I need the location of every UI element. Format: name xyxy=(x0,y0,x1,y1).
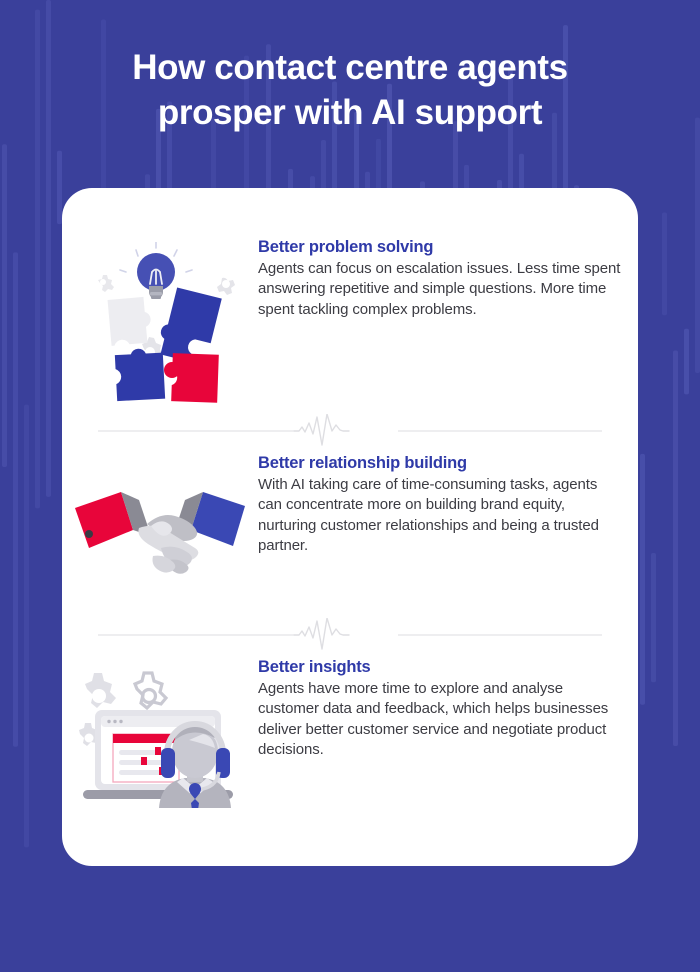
page-title-line-2: prosper with AI support xyxy=(0,91,700,136)
puzzle-lightbulb-icon xyxy=(62,238,258,410)
benefit-block-relationship-building: Better relationship building With AI tak… xyxy=(62,454,638,582)
benefit-block-insights: Better insights Agents have more time to… xyxy=(62,658,638,808)
divider-waveform-2 xyxy=(98,618,602,652)
benefit-copy: Better problem solving Agents can focus … xyxy=(258,238,638,410)
benefit-body: Agents have more time to explore and ana… xyxy=(258,679,624,760)
benefit-copy: Better relationship building With AI tak… xyxy=(258,454,638,582)
benefit-block-problem-solving: Better problem solving Agents can focus … xyxy=(62,238,638,410)
benefit-heading: Better insights xyxy=(258,658,624,677)
content-card: Better problem solving Agents can focus … xyxy=(62,188,638,866)
page-title-line-1: How contact centre agents xyxy=(0,46,700,91)
benefit-heading: Better problem solving xyxy=(258,238,624,257)
handshake-icon xyxy=(62,454,258,582)
benefit-body: With AI taking care of time-consuming ta… xyxy=(258,475,624,556)
divider-waveform-1 xyxy=(98,414,602,448)
benefit-body: Agents can focus on escalation issues. L… xyxy=(258,259,624,320)
benefit-copy: Better insights Agents have more time to… xyxy=(258,658,638,808)
laptop-headset-agent-icon xyxy=(62,658,258,808)
benefit-heading: Better relationship building xyxy=(258,454,624,473)
page-title: How contact centre agents prosper with A… xyxy=(0,46,700,136)
